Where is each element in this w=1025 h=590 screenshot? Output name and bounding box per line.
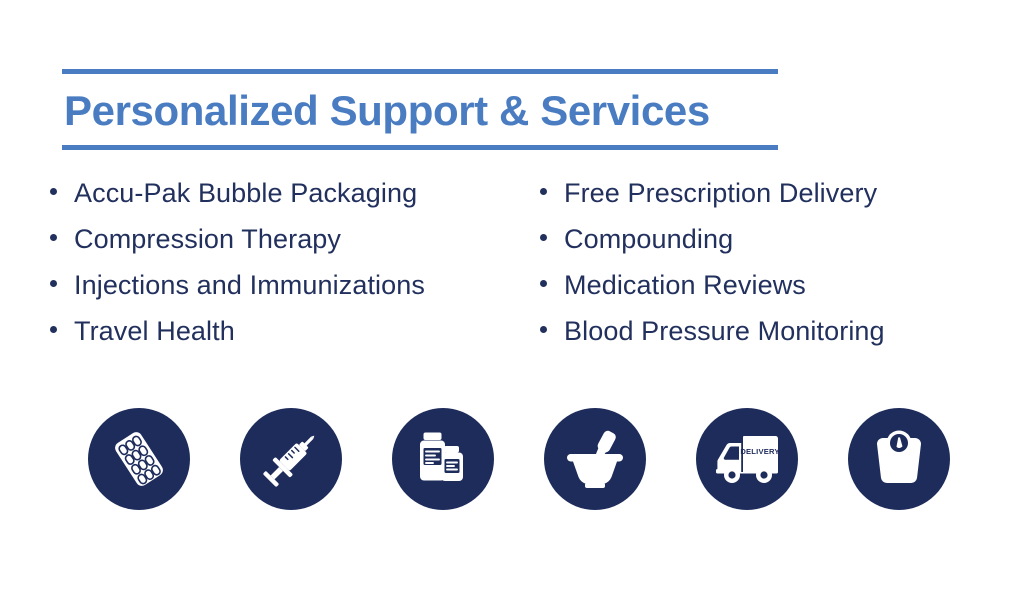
weight-scale-icon [867,428,931,490]
bullet-icon [50,188,57,195]
icon-circle-delivery-van: DELIVERY [696,408,798,510]
title-rule-bottom [62,145,778,150]
list-item: Free Prescription Delivery [540,178,990,224]
delivery-van-icon: DELIVERY [712,430,782,488]
service-label: Injections and Immunizations [74,270,425,301]
service-label: Medication Reviews [564,270,806,301]
services-left-column: Accu-Pak Bubble Packaging Compression Th… [50,178,540,362]
service-label: Compounding [564,224,733,255]
van-delivery-text: DELIVERY [740,447,779,456]
service-label: Accu-Pak Bubble Packaging [74,178,417,209]
slide-canvas: Personalized Support & Services Accu-Pak… [0,0,1025,590]
blister-pack-icon [105,425,173,493]
service-label: Free Prescription Delivery [564,178,877,209]
list-item: Accu-Pak Bubble Packaging [50,178,540,224]
list-item: Medication Reviews [540,270,990,316]
service-icon-row: DELIVERY [88,408,950,510]
list-item: Compounding [540,224,990,270]
bullet-icon [50,280,57,287]
icon-circle-pill-bottles [392,408,494,510]
list-item: Blood Pressure Monitoring [540,316,990,362]
bullet-icon [540,234,547,241]
service-label: Compression Therapy [74,224,341,255]
pill-bottles-icon [411,427,475,491]
list-item: Compression Therapy [50,224,540,270]
bullet-icon [50,326,57,333]
bullet-icon [540,280,547,287]
list-item: Injections and Immunizations [50,270,540,316]
syringe-icon [258,426,324,492]
services-lists: Accu-Pak Bubble Packaging Compression Th… [50,178,990,362]
icon-circle-weight-scale [848,408,950,510]
service-label: Blood Pressure Monitoring [564,316,885,347]
icon-circle-mortar-pestle [544,408,646,510]
bullet-icon [540,326,547,333]
service-label: Travel Health [74,316,235,347]
list-item: Travel Health [50,316,540,362]
icon-circle-syringe [240,408,342,510]
title-block: Personalized Support & Services [62,69,778,150]
services-right-column: Free Prescription Delivery Compounding M… [540,178,990,362]
mortar-pestle-icon [562,427,628,491]
icon-circle-blister-pack [88,408,190,510]
bullet-icon [540,188,547,195]
bullet-icon [50,234,57,241]
page-title: Personalized Support & Services [62,74,778,145]
